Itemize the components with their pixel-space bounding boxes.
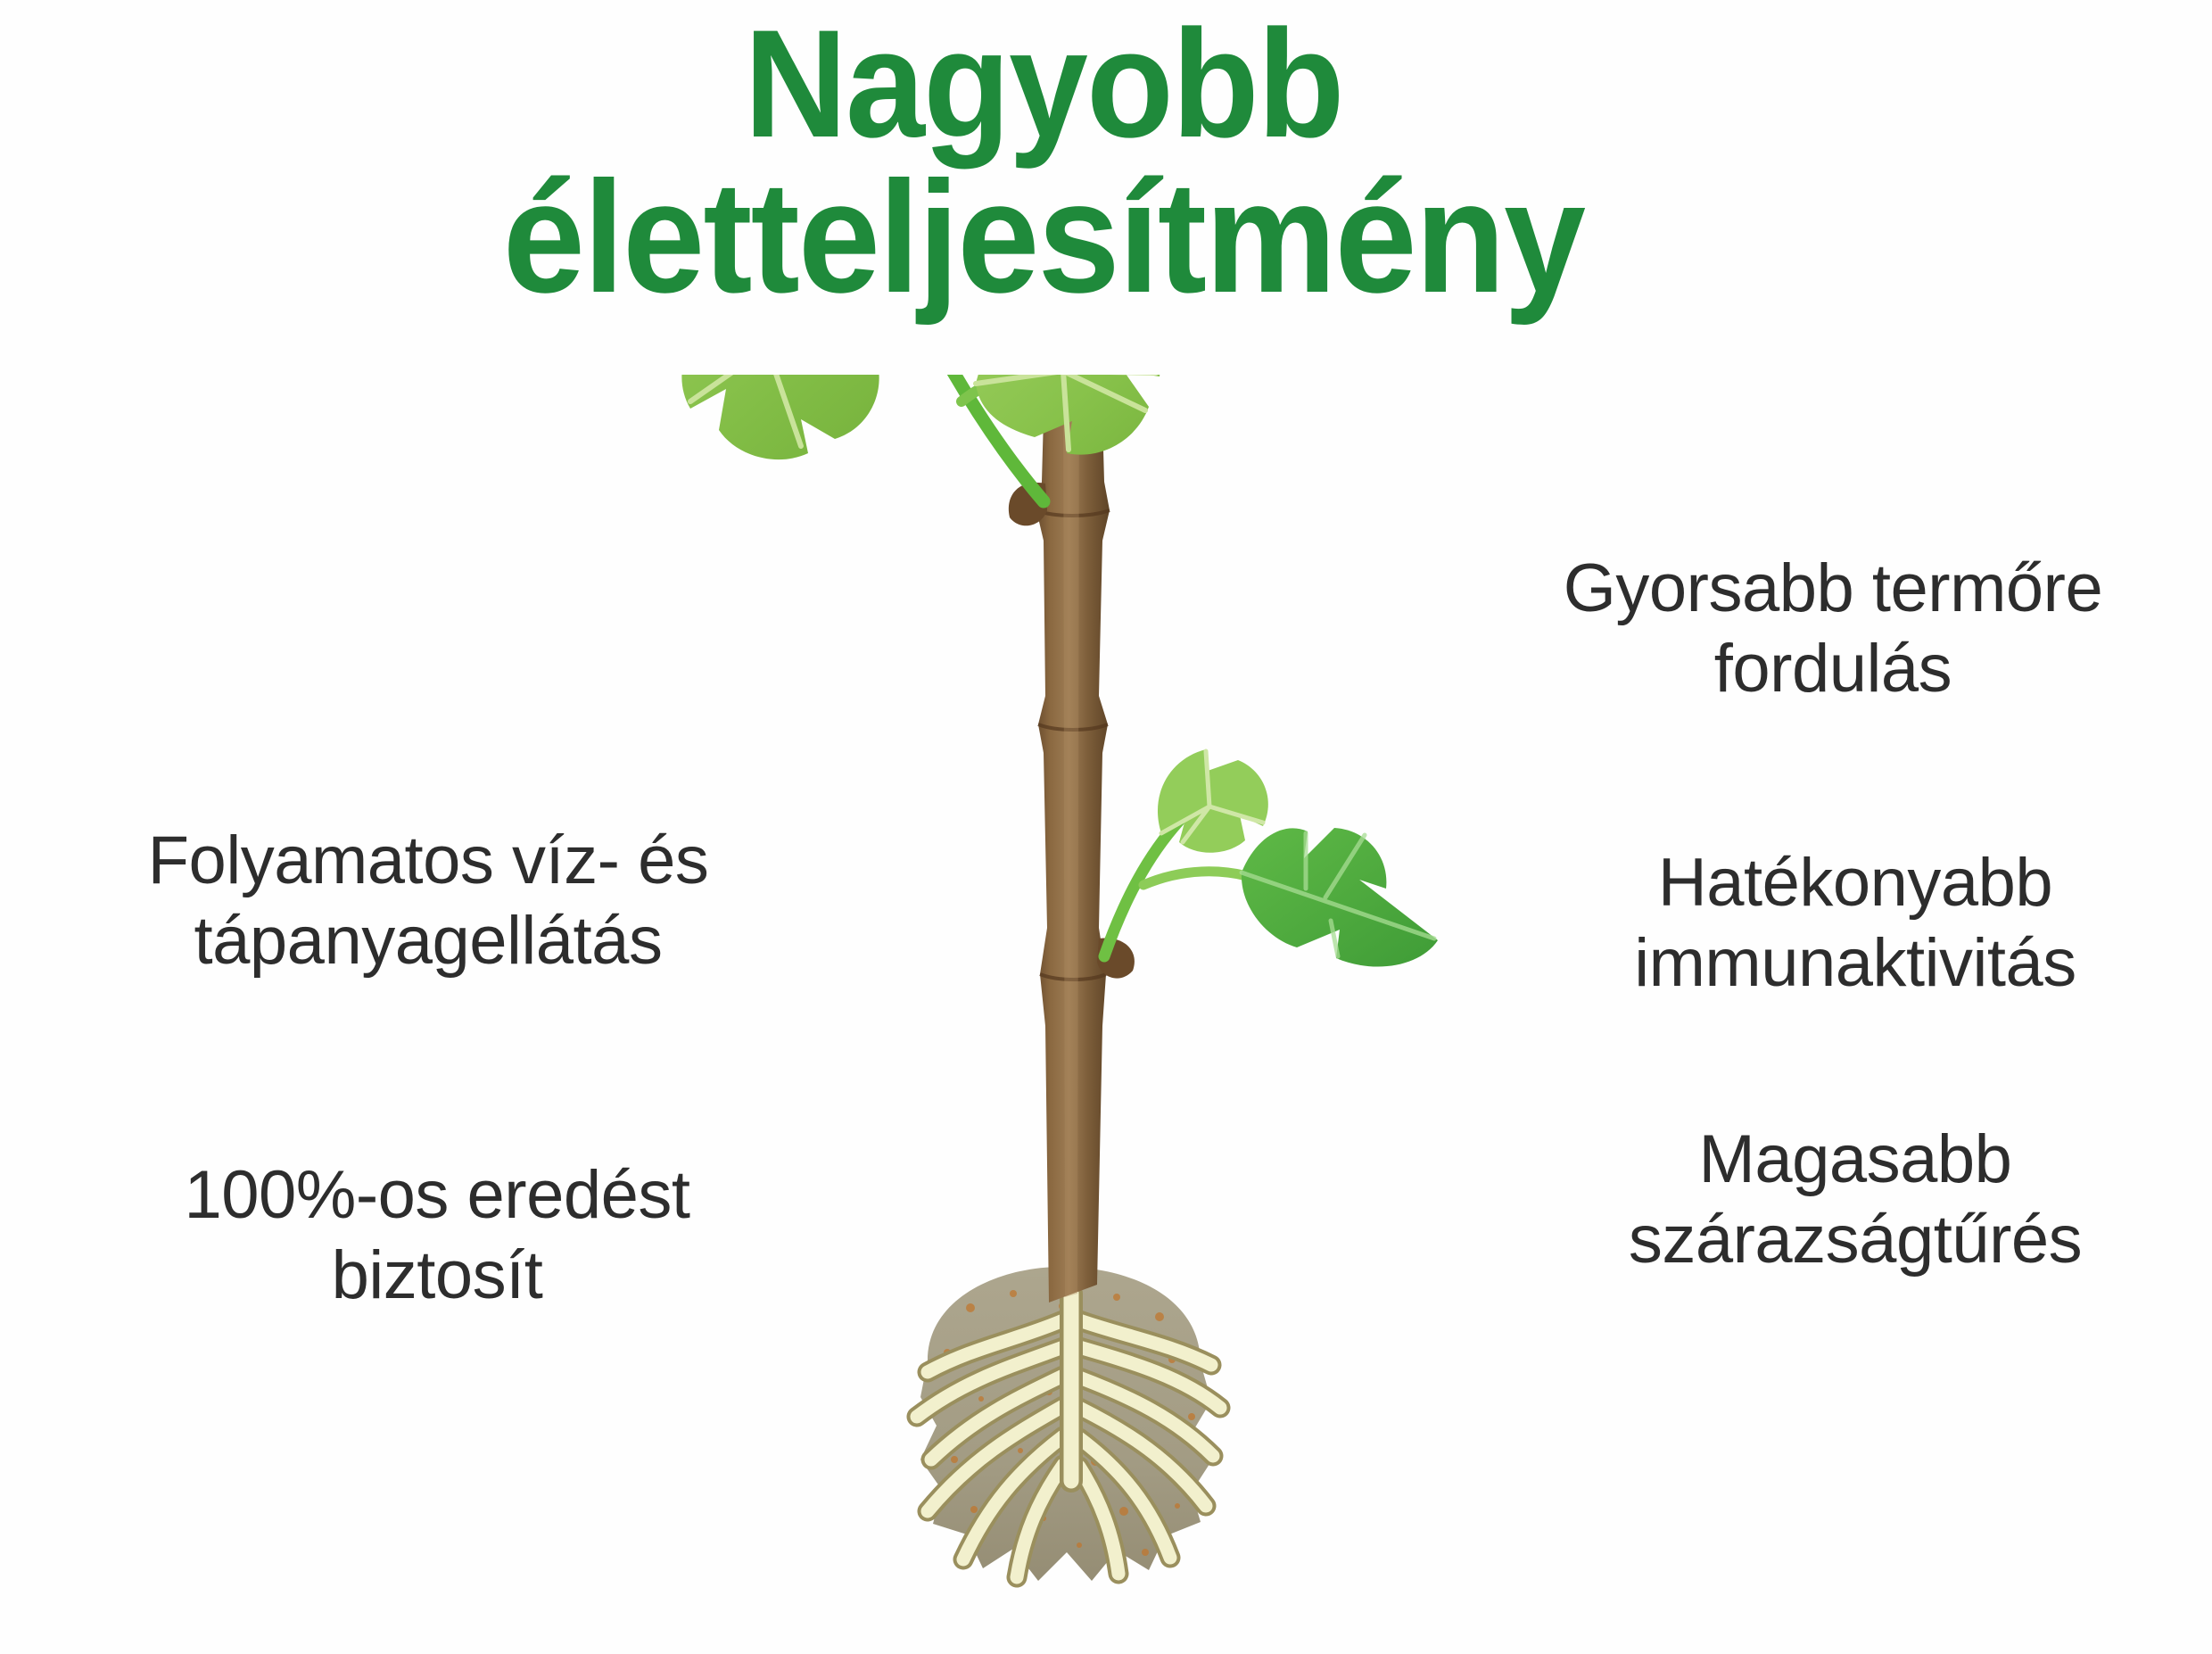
benefit-higher-drought-tolerance: Magasabb szárazságtűrés [1516,1120,2194,1279]
title-line-2: életteljesítmény [73,160,2014,315]
grapevine-seedling-illustration [660,375,1463,1642]
trunk-group [1009,375,1135,1303]
leaf-lower-bud [1158,749,1268,853]
root-ball-group [917,1267,1220,1581]
trunk-highlight [1063,375,1079,1297]
lower-shoot-group [1104,749,1438,967]
benefit-better-immune-activity: Hatékonyabb immunaktivitás [1516,843,2194,1003]
title-line-1: Nagyobb [73,9,2014,160]
leaf-upper-left [681,375,879,459]
leaf-lower-dark [1242,828,1438,967]
page-title: Nagyobb életteljesítmény [0,9,2087,315]
benefit-faster-fruiting: Gyorsabb termőre fordulás [1481,549,2185,708]
